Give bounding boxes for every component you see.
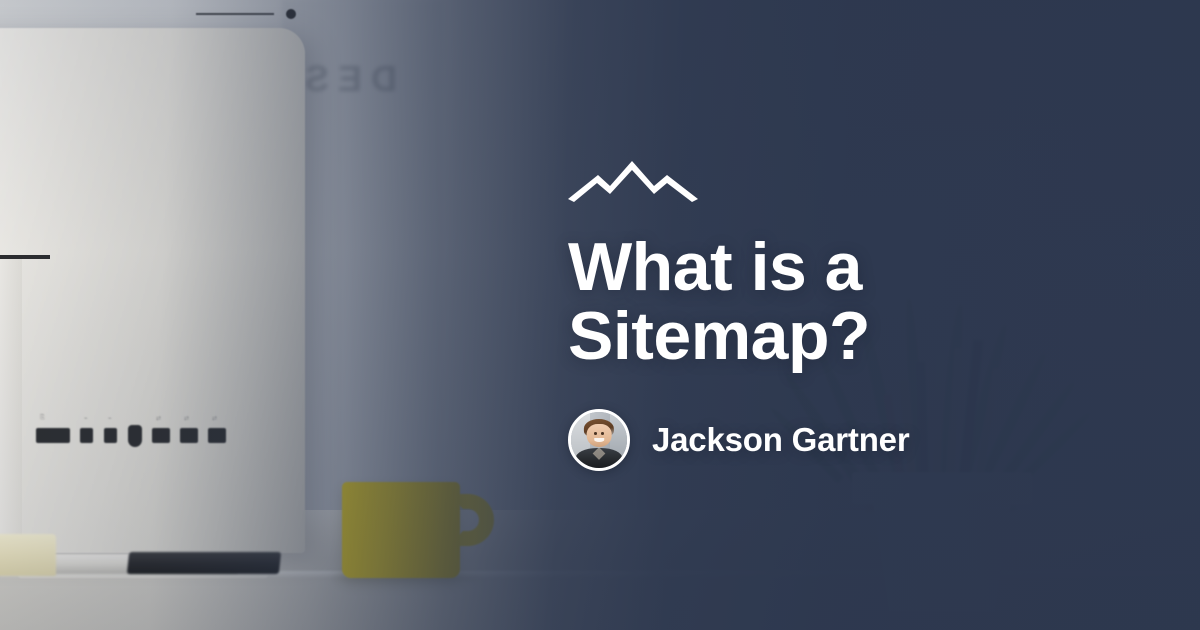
page-title-line-1: What is a [568,229,862,305]
avatar-eye-left [594,432,597,435]
avatar-eye-right [601,432,604,435]
avatar-smile [594,438,604,442]
author-name: Jackson Gartner [652,421,909,459]
page-title: What is a Sitemap? [568,233,968,372]
page-title-line-2: Sitemap? [568,298,870,374]
hero-content: What is a Sitemap? Jackson Gartner [568,0,1128,630]
mountain-peaks-icon[interactable] [568,159,698,203]
author-byline: Jackson Gartner [568,409,1128,471]
avatar-face [587,424,612,446]
avatar[interactable] [568,409,630,471]
hero-card: DES ⎘ ⌁ ⌁ ⇄ ⇄ ⇄ [0,0,1200,630]
